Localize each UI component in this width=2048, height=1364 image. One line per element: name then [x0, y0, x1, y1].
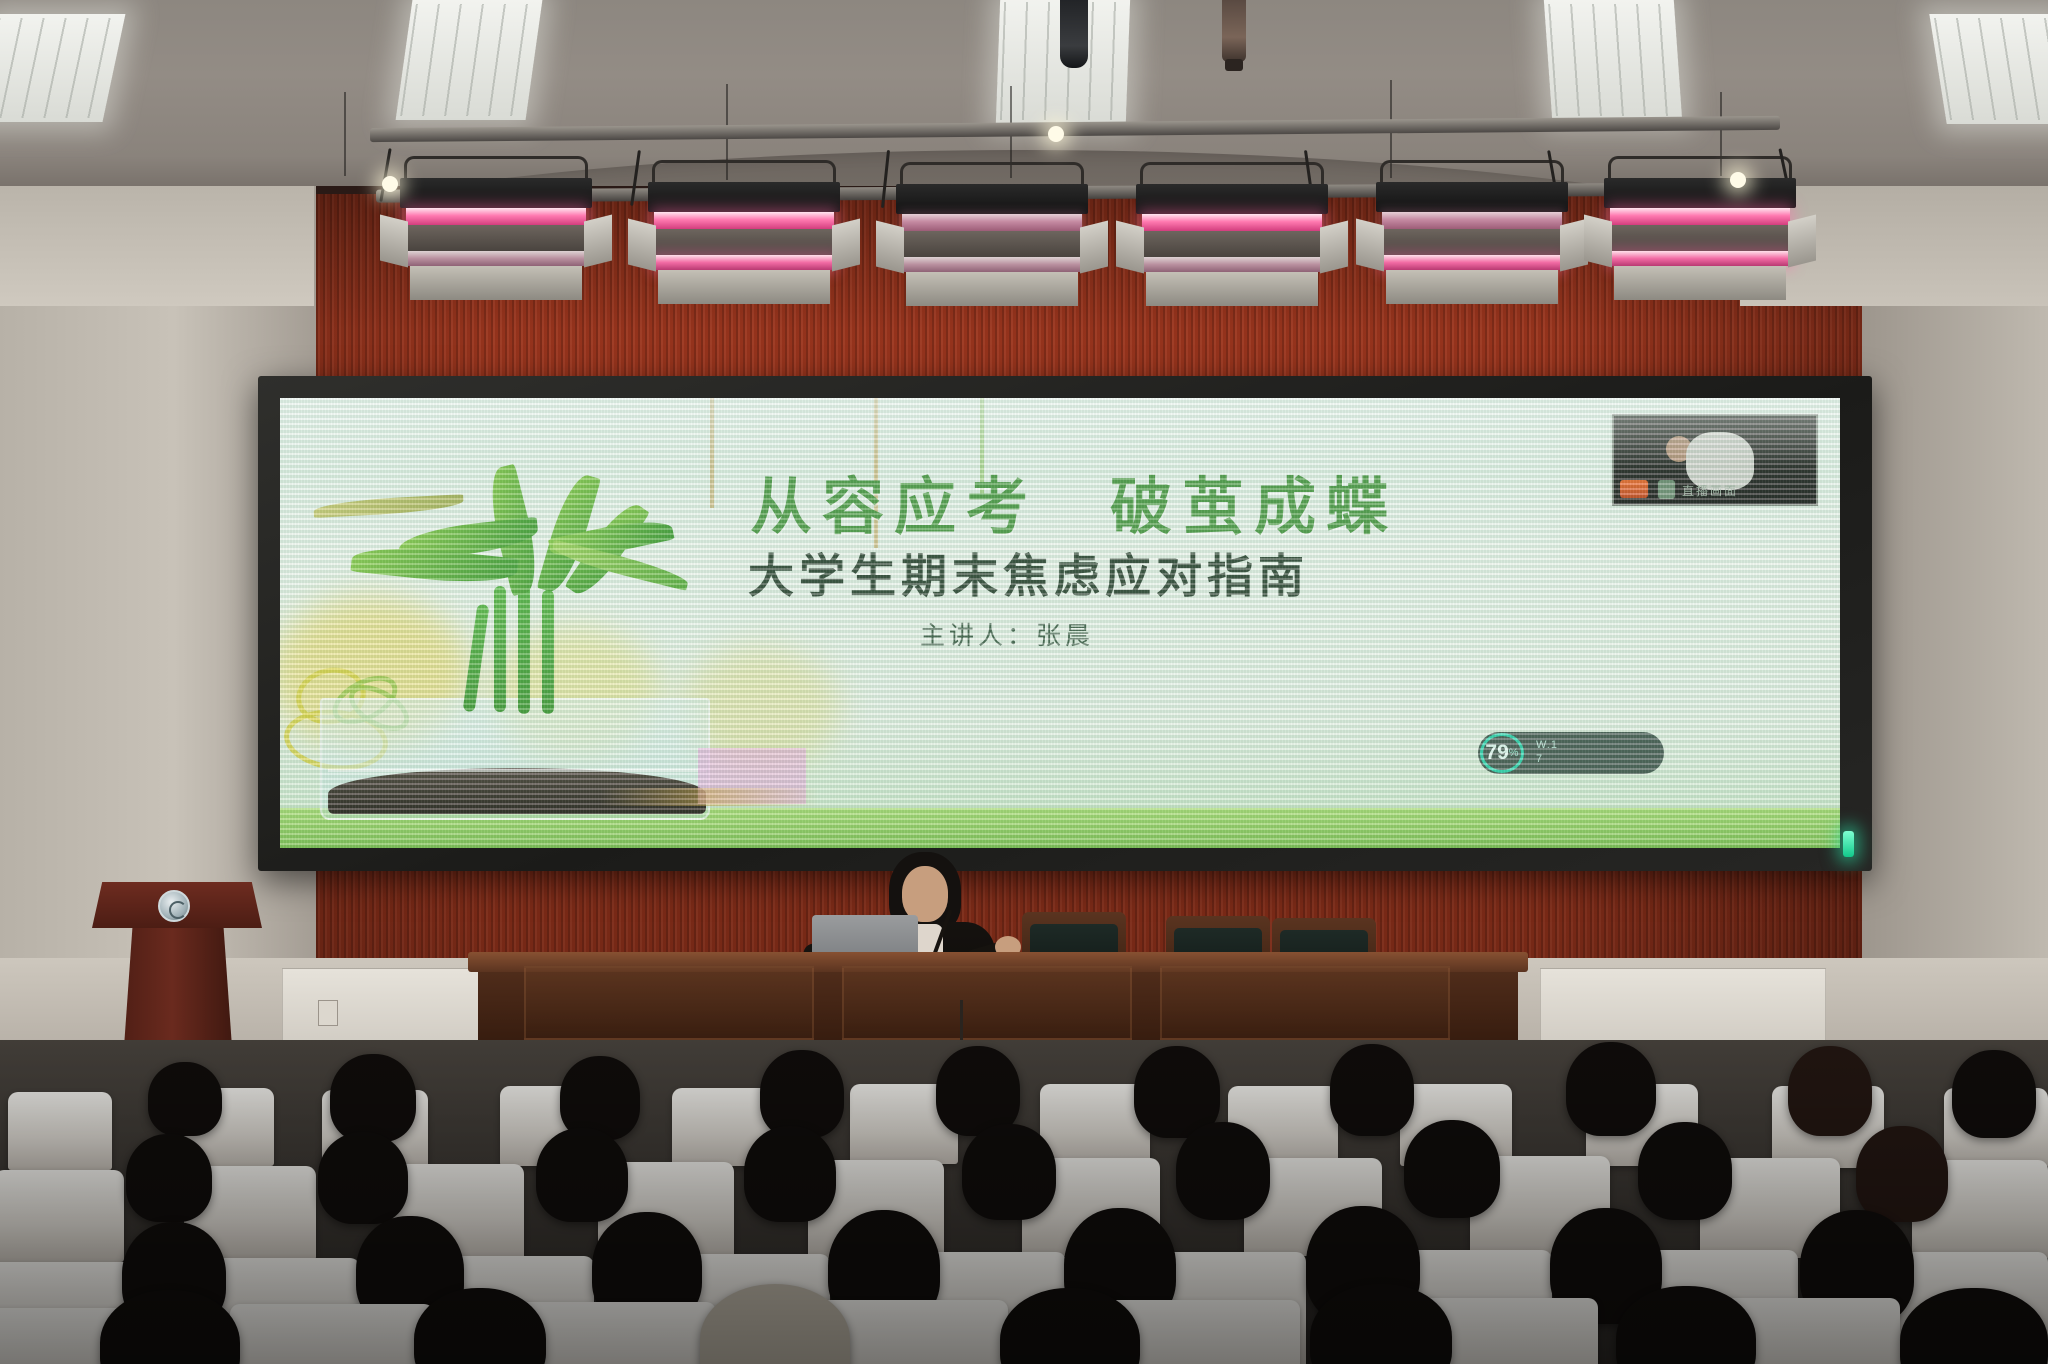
led-display-screen[interactable]: 从容应考 破茧成蝶 大学生期末焦虑应对指南 主讲人：张晨 直播画面 79 % W… [280, 398, 1840, 848]
fixture-tube [406, 251, 586, 266]
fixture-tube [1142, 214, 1322, 231]
watermark-badge: 79 % W.1 7 [1478, 732, 1664, 774]
plant-stem [518, 574, 530, 714]
truss-bulb [1048, 126, 1064, 142]
audience-seat[interactable] [8, 1092, 112, 1170]
audience-seat[interactable] [0, 1170, 124, 1262]
watermark-progress-ring: 79 % [1480, 733, 1524, 773]
audience-head [1638, 1122, 1732, 1220]
watermark-unit: % [1509, 747, 1519, 759]
fixture-body [1612, 225, 1788, 251]
fixture-body [904, 231, 1080, 257]
audience-head [536, 1128, 628, 1222]
audience-seat[interactable] [230, 1304, 434, 1364]
display-glitch-line [710, 398, 714, 508]
barn-door-right [1788, 215, 1816, 268]
watermark-line-1: W.1 [1536, 739, 1558, 753]
fixture-lower-panel [658, 270, 830, 304]
stage-light-fixture [1368, 182, 1576, 312]
fixture-tube [902, 257, 1082, 272]
fixture-lower-panel [906, 272, 1078, 306]
fixture-housing [1604, 178, 1796, 208]
ceiling-light-panel [0, 14, 125, 122]
fixture-tube [1382, 212, 1562, 229]
audience-head [1788, 1046, 1872, 1136]
barn-door-left [1356, 219, 1384, 272]
audience-head [126, 1134, 212, 1222]
audience-head [936, 1046, 1020, 1136]
fixture-body [1144, 231, 1320, 257]
wall-socket[interactable] [318, 1000, 338, 1026]
fixture-tube [1142, 257, 1322, 272]
audience-head [560, 1056, 640, 1140]
audience-head [148, 1062, 222, 1136]
hanging-wire [344, 92, 346, 176]
led-display-bezel: 从容应考 破茧成蝶 大学生期末焦虑应对指南 主讲人：张晨 直播画面 79 % W… [258, 376, 1872, 871]
audience-area [0, 1040, 2048, 1364]
audience-head [1856, 1126, 1948, 1222]
fixture-body [408, 225, 584, 251]
fixture-housing [896, 184, 1088, 214]
fixture-tube [406, 208, 586, 225]
stage-light-fixture [888, 184, 1096, 314]
barn-door-right [832, 219, 860, 272]
audience-head [760, 1050, 844, 1138]
fixture-tube [1610, 208, 1790, 225]
barn-door-right [1320, 221, 1348, 274]
barn-door-left [1584, 215, 1612, 268]
fixture-tube [1610, 251, 1790, 266]
slide-subtitle: 大学生期末焦虑应对指南 [748, 540, 1828, 606]
slide-waterline [328, 769, 706, 772]
fixture-housing [648, 182, 840, 212]
watermark-line-2: 7 [1536, 753, 1558, 767]
fixture-housing [400, 178, 592, 208]
barn-door-left [1116, 221, 1144, 274]
camera-overlay-label: 直播画面 [1682, 482, 1738, 499]
barn-door-left [380, 215, 408, 268]
watermark-text-lines: W.1 7 [1536, 739, 1558, 767]
presenter-face [902, 866, 948, 922]
plant-stem [542, 590, 554, 714]
lecture-hall-photo: 从容应考 破茧成蝶 大学生期末焦虑应对指南 主讲人：张晨 直播画面 79 % W… [0, 0, 2048, 1364]
barn-door-left [628, 219, 656, 272]
truss-bulb [1730, 172, 1746, 188]
audience-head [1566, 1042, 1656, 1136]
audience-head [1330, 1044, 1414, 1136]
fixture-tube [1382, 255, 1562, 270]
upper-left-wall [0, 186, 314, 306]
slide-presenter: 主讲人：张晨 [920, 616, 1094, 652]
fixture-body [656, 229, 832, 255]
fixture-tube [654, 212, 834, 229]
audience-head [1176, 1122, 1270, 1220]
ceiling-light-panel [1929, 14, 2048, 124]
plant-stem [494, 586, 506, 712]
barn-door-right [584, 215, 612, 268]
fixture-tube [902, 214, 1082, 231]
screen-power-led-icon [1843, 831, 1854, 857]
plant-leaf [313, 494, 464, 518]
audience-head [318, 1132, 408, 1224]
barn-door-right [1080, 221, 1108, 274]
live-camera-overlay[interactable]: 直播画面 [1612, 414, 1818, 506]
fixture-lower-panel [1614, 266, 1786, 300]
right-side-wall [1862, 186, 2048, 1066]
university-emblem-icon [158, 890, 190, 922]
display-glitch-band [600, 788, 820, 806]
ceiling-camera [1222, 0, 1246, 62]
ceiling-light-panel [1544, 0, 1682, 120]
camera-status-icon [1658, 480, 1675, 499]
audience-head [1404, 1120, 1500, 1218]
audience-head [1952, 1050, 2036, 1138]
stage-light-fixture [640, 182, 848, 312]
broadcast-app-icon [1620, 480, 1648, 498]
fixture-housing [1376, 182, 1568, 212]
fixture-housing [1136, 184, 1328, 214]
audience-head [330, 1054, 416, 1142]
fixture-lower-panel [1386, 270, 1558, 304]
ceiling-projector [1060, 0, 1088, 68]
stage-light-fixture [392, 178, 600, 308]
stage-light-fixture [1128, 184, 1336, 314]
stage-light-fixture [1596, 178, 1804, 308]
desk-panel-inset [524, 966, 814, 1040]
desk-panel-inset [1160, 966, 1450, 1040]
watermark-value: 79 [1485, 741, 1508, 765]
ceiling-light-panel [396, 0, 543, 120]
truss-bulb [382, 176, 398, 192]
desk-panel-inset [842, 966, 1132, 1040]
fixture-tube [654, 255, 834, 270]
fixture-body [1384, 229, 1560, 255]
audience-head [962, 1124, 1056, 1220]
barn-door-left [876, 221, 904, 274]
fixture-lower-panel [410, 266, 582, 300]
audience-head [744, 1126, 836, 1222]
fixture-lower-panel [1146, 272, 1318, 306]
